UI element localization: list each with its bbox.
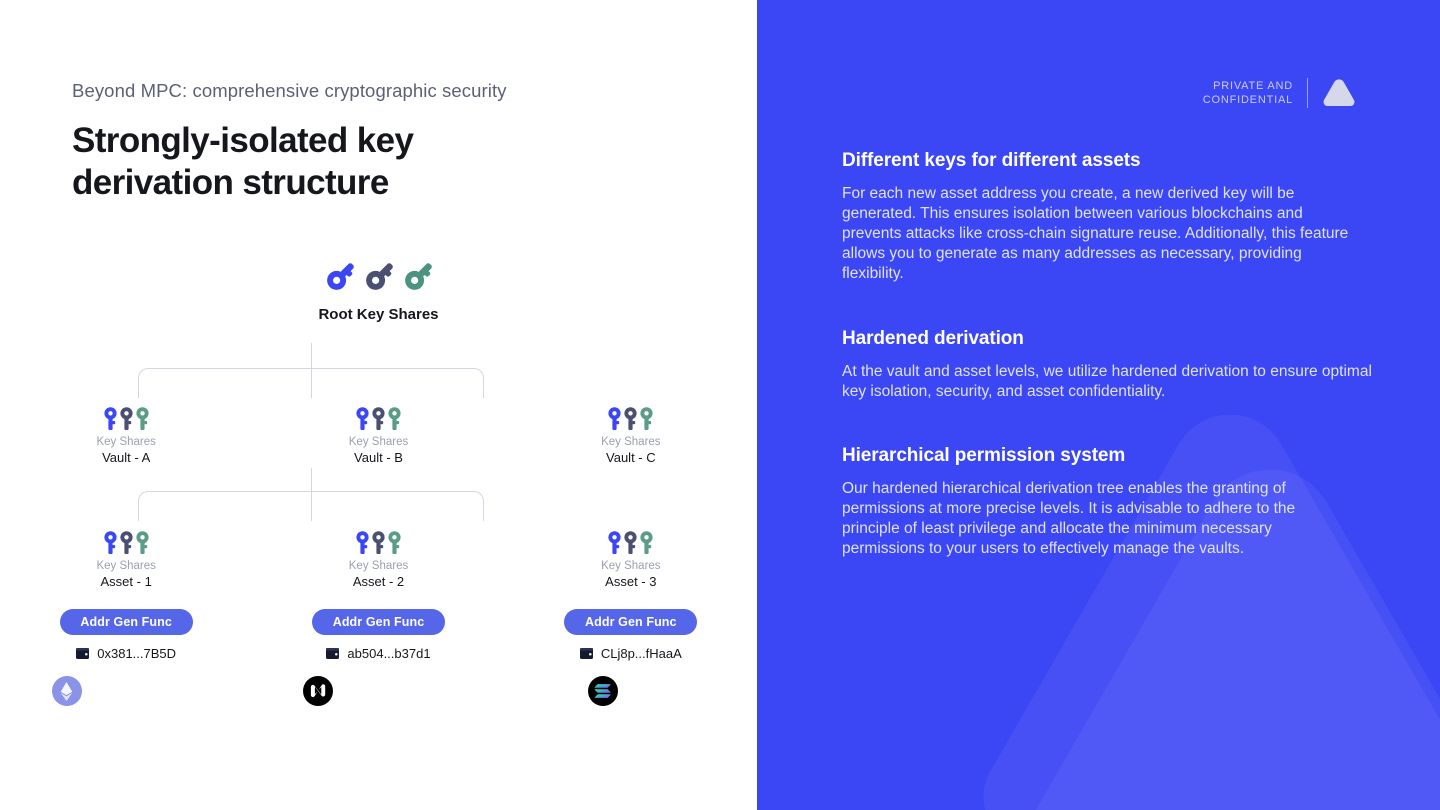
asset-node: Key Shares Asset - 1	[0, 529, 252, 590]
addr-gen-func-button[interactable]: Addr Gen Func	[564, 609, 697, 635]
wallet-icon	[580, 647, 594, 660]
solana-icon	[588, 676, 618, 706]
section-heading: Different keys for different assets	[842, 150, 1362, 172]
mini-key-group	[104, 405, 149, 431]
key-icon	[136, 407, 149, 431]
mini-key-group	[356, 529, 401, 555]
key-icon	[120, 531, 133, 555]
node-title: Vault - B	[354, 450, 403, 466]
addr-gen-cell: Addr Gen Func	[0, 609, 252, 635]
addr-gen-button-row: Addr Gen Func Addr Gen Func Addr Gen Fun…	[0, 609, 757, 635]
asset-node: Key Shares Asset - 2	[252, 529, 504, 590]
address-cell: CLj8p...fHaaA	[505, 646, 757, 661]
addr-gen-cell: Addr Gen Func	[505, 609, 757, 635]
feature-section: Hardened derivation At the vault and ass…	[842, 328, 1372, 402]
vault-node: Key Shares Vault - B	[252, 405, 504, 466]
key-icon	[323, 258, 357, 294]
node-title: Asset - 1	[101, 574, 152, 590]
key-icon	[608, 407, 621, 431]
key-icon	[640, 531, 653, 555]
key-icon	[640, 407, 653, 431]
key-icon	[624, 407, 637, 431]
confidential-marker: PRIVATE AND CONFIDENTIAL	[1203, 78, 1356, 108]
connector-vault-center-stub	[311, 368, 312, 398]
section-heading: Hierarchical permission system	[842, 445, 1357, 467]
section-body: For each new asset address you create, a…	[842, 184, 1362, 284]
node-subtitle: Key Shares	[96, 559, 155, 573]
address-text: ab504...b37d1	[347, 646, 430, 661]
key-icon	[362, 258, 396, 294]
node-title: Asset - 3	[605, 574, 656, 590]
node-subtitle: Key Shares	[601, 435, 660, 449]
chain-logo-row	[0, 676, 757, 706]
key-icon	[356, 407, 369, 431]
wallet-icon	[76, 647, 90, 660]
key-icon	[608, 531, 621, 555]
addr-gen-func-button[interactable]: Addr Gen Func	[60, 609, 193, 635]
root-key-icons	[323, 258, 435, 294]
near-icon	[303, 676, 333, 706]
key-icon	[120, 407, 133, 431]
key-icon	[356, 531, 369, 555]
chain-logo-cell	[448, 676, 757, 706]
feature-section: Hierarchical permission system Our harde…	[842, 445, 1357, 559]
address-text: CLj8p...fHaaA	[601, 646, 682, 661]
background-watermark	[950, 370, 1440, 810]
section-body: Our hardened hierarchical derivation tre…	[842, 479, 1357, 559]
key-icon	[388, 407, 401, 431]
wallet-icon	[326, 647, 340, 660]
connector-vault-stub	[311, 468, 312, 491]
key-icon	[401, 258, 435, 294]
address-cell: 0x381...7B5D	[0, 646, 252, 661]
confidential-divider	[1307, 78, 1308, 108]
node-title: Asset - 2	[353, 574, 404, 590]
ethereum-icon	[52, 676, 82, 706]
feature-section: Different keys for different assets For …	[842, 150, 1362, 284]
address-cell: ab504...b37d1	[252, 646, 504, 661]
address-row: 0x381...7B5D ab504...b37d1	[0, 646, 757, 661]
left-pane: Beyond MPC: comprehensive cryptographic …	[0, 0, 757, 810]
node-title: Vault - C	[606, 450, 656, 466]
key-icon	[388, 531, 401, 555]
address-text: 0x381...7B5D	[97, 646, 176, 661]
node-subtitle: Key Shares	[349, 559, 408, 573]
mini-key-group	[104, 529, 149, 555]
connector-asset-center-stub	[311, 491, 312, 521]
chain-logo-cell	[163, 676, 472, 706]
slide: Beyond MPC: comprehensive cryptographic …	[0, 0, 1440, 810]
asset-node: Key Shares Asset - 3	[505, 529, 757, 590]
key-derivation-diagram: Root Key Shares Key Shares Vault - A	[0, 0, 757, 810]
section-body: At the vault and asset levels, we utiliz…	[842, 362, 1372, 402]
addr-gen-func-button[interactable]: Addr Gen Func	[312, 609, 445, 635]
key-icon	[624, 531, 637, 555]
section-heading: Hardened derivation	[842, 328, 1372, 350]
root-key-label: Root Key Shares	[318, 306, 438, 323]
node-subtitle: Key Shares	[349, 435, 408, 449]
key-icon	[372, 407, 385, 431]
connector-root-stub	[311, 343, 312, 368]
root-key-group: Root Key Shares	[0, 258, 757, 323]
addr-gen-cell: Addr Gen Func	[252, 609, 504, 635]
mini-key-group	[356, 405, 401, 431]
node-title: Vault - A	[102, 450, 150, 466]
confidential-text: PRIVATE AND CONFIDENTIAL	[1203, 79, 1293, 107]
key-icon	[104, 531, 117, 555]
right-pane: PRIVATE AND CONFIDENTIAL Different keys …	[757, 0, 1440, 810]
vault-node: Key Shares Vault - C	[505, 405, 757, 466]
asset-level: Key Shares Asset - 1 Key Shares Asset - …	[0, 529, 757, 590]
mini-key-group	[608, 529, 653, 555]
node-subtitle: Key Shares	[601, 559, 660, 573]
mini-key-group	[608, 405, 653, 431]
key-icon	[372, 531, 385, 555]
node-subtitle: Key Shares	[96, 435, 155, 449]
vault-level: Key Shares Vault - A Key Shares Vault - …	[0, 405, 757, 466]
vault-node: Key Shares Vault - A	[0, 405, 252, 466]
company-logo-icon	[1322, 78, 1356, 108]
key-icon	[136, 531, 149, 555]
key-icon	[104, 407, 117, 431]
